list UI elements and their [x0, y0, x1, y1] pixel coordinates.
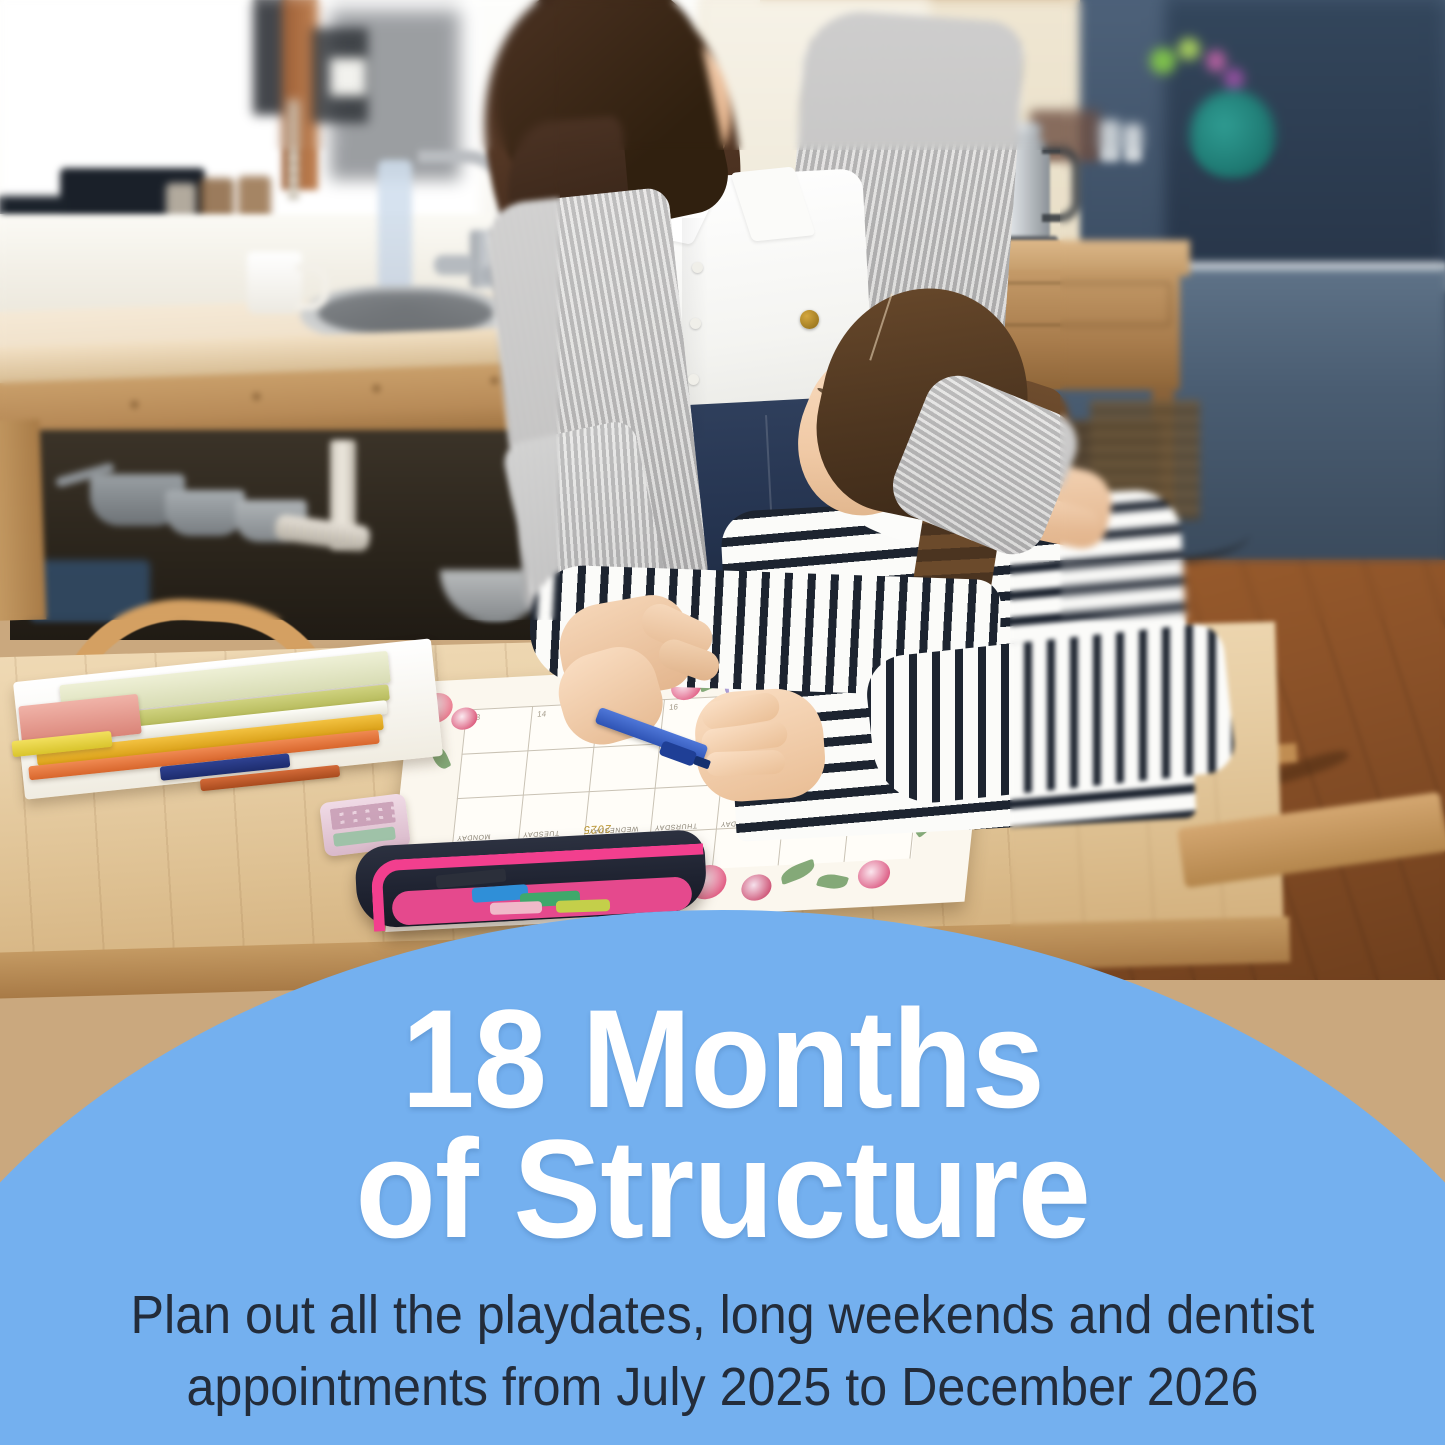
- hanging-chain: [288, 100, 299, 200]
- calendar-flower: [857, 859, 892, 889]
- calendar-flower: [740, 874, 773, 902]
- workbench-peg: [490, 376, 499, 385]
- product-lifestyle-image: 13 14 15 16 17 18 19 MONDAY TUESDAY WEDN…: [0, 0, 1445, 1445]
- plant-bloom-d: [1224, 68, 1244, 90]
- mother-shirt-button: [690, 318, 701, 329]
- workbench-peg: [372, 384, 381, 393]
- calendar-date: 14: [537, 709, 547, 719]
- saucepan-b: [165, 490, 245, 536]
- banner-content: 18 Months of Structure Plan out all the …: [0, 910, 1445, 1445]
- headline-line-2: of Structure: [355, 1124, 1090, 1254]
- mother-shirt-button: [688, 374, 699, 385]
- page-subtitle: Plan out all the playdates, long weekend…: [131, 1280, 1315, 1423]
- shelf-bottle-a: [1100, 120, 1120, 162]
- shelf-bottle-b: [1124, 124, 1142, 162]
- calendar-leaf: [816, 872, 849, 892]
- page-title: 18 Months of Structure: [355, 910, 1090, 1254]
- coffee-mug-handle: [296, 264, 329, 310]
- calculator-keypad: [330, 801, 396, 830]
- workbench-peg: [130, 400, 139, 409]
- mother-cardigan-button: [800, 310, 819, 329]
- water-bottle: [378, 160, 412, 290]
- tap-handle-left: [434, 255, 474, 275]
- mother-shirt-button: [692, 262, 703, 273]
- kettle-handle: [1042, 146, 1080, 222]
- plant-bloom-b: [1178, 38, 1200, 60]
- workbench-leg: [0, 419, 46, 621]
- girl-hand-right: [692, 686, 827, 805]
- workbench-peg: [252, 392, 261, 401]
- calendar-date: 16: [669, 702, 679, 712]
- calculator-screen: [333, 826, 396, 846]
- potted-plant: [1190, 90, 1275, 178]
- subtitle-line-2: appointments from July 2025 to December …: [131, 1352, 1315, 1423]
- headline-line-1: 18 Months: [355, 994, 1090, 1124]
- subtitle-line-1: Plan out all the playdates, long weekend…: [131, 1280, 1315, 1351]
- plant-bloom-c: [1206, 50, 1226, 72]
- plant-bloom-a: [1150, 48, 1176, 74]
- window-pane-light: [330, 58, 366, 96]
- girl-finger: [705, 750, 786, 777]
- sink-basin-inner: [318, 292, 493, 334]
- coffee-mug: [247, 252, 302, 314]
